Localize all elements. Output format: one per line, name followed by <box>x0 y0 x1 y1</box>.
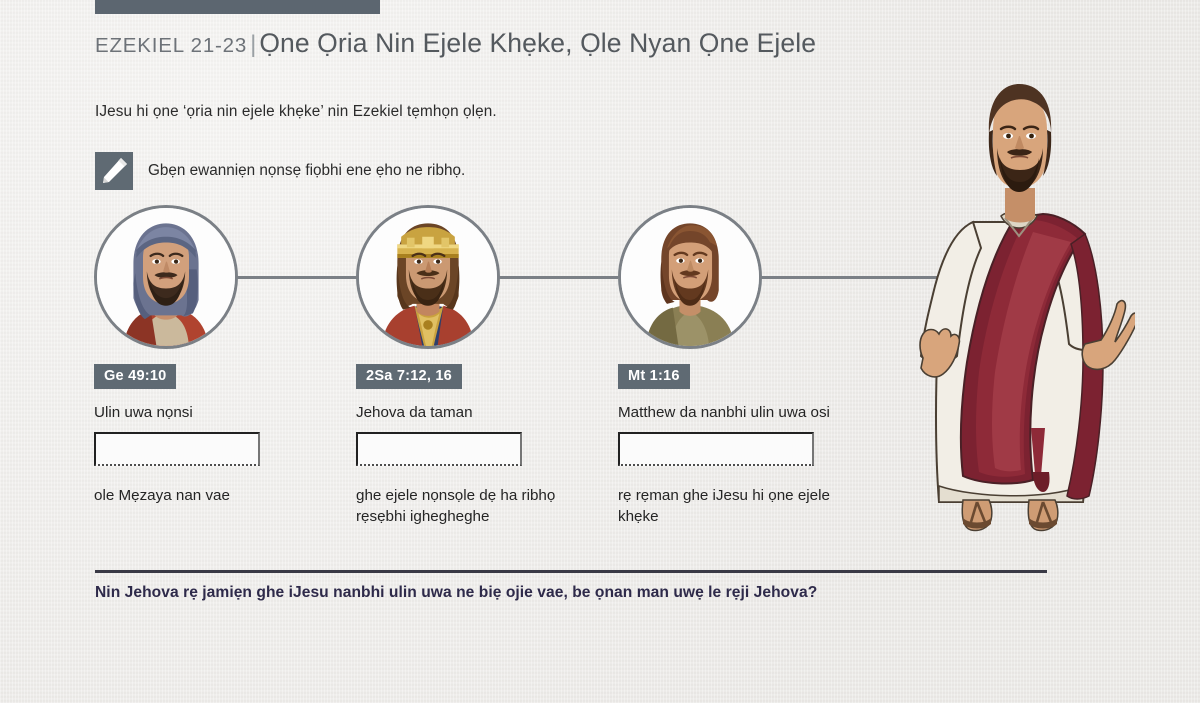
column-text-after: ole Mẹzaya nan vae <box>94 485 319 506</box>
column-text-before: Ulin uwa nọnsi <box>94 402 319 423</box>
answer-input[interactable] <box>356 432 522 466</box>
answer-input[interactable] <box>94 432 260 466</box>
lesson-title-label: Ọne Ọria Nin Ejele Khẹke, Ọle Nyan Ọne E… <box>259 28 816 58</box>
instruction-label: Gbẹn ewanniẹn nọnsẹ fiọbhi ene ẹho ne ri… <box>148 162 465 180</box>
intro-paragraph: IJesu hi ọne ‘ọria nin ejele khẹke’ nin … <box>95 103 497 121</box>
pencil-icon <box>95 152 133 190</box>
column-text-after: rẹ rẹman ghe iJesu hi ọne ejele khẹke <box>618 485 843 527</box>
reflection-question: Nin Jehova rẹ jamiẹn ghe iJesu nanbhi ul… <box>95 584 1055 602</box>
timeline-column-3: Mt 1:16 Matthew da nanbhi ulin uwa osi r… <box>618 364 843 527</box>
timeline-column-1: Ge 49:10 Ulin uwa nọnsi ole Mẹzaya nan v… <box>94 364 319 506</box>
scripture-badge: Mt 1:16 <box>618 364 690 389</box>
timeline-column-2: 2Sa 7:12, 16 Jehova da taman ghe ejele n… <box>356 364 581 527</box>
column-text-before: Matthew da nanbhi ulin uwa osi <box>618 402 843 423</box>
page-title: EZEKIEL 21-23|Ọne Ọria Nin Ejele Khẹke, … <box>95 28 816 59</box>
top-accent-bar <box>95 0 380 14</box>
answer-input[interactable] <box>618 432 814 466</box>
jesus-illustration <box>905 72 1135 542</box>
title-separator: | <box>247 31 259 58</box>
scripture-badge: Ge 49:10 <box>94 364 176 389</box>
scripture-badge: 2Sa 7:12, 16 <box>356 364 462 389</box>
column-text-after: ghe ejele nọnsọle dẹ ha ribhọ rẹsẹbhi ig… <box>356 485 581 527</box>
question-divider <box>95 570 1047 573</box>
column-text-before: Jehova da taman <box>356 402 581 423</box>
instruction-row: Gbẹn ewanniẹn nọnsẹ fiọbhi ene ẹho ne ri… <box>95 152 465 190</box>
scripture-range-label: EZEKIEL 21-23 <box>95 34 247 57</box>
